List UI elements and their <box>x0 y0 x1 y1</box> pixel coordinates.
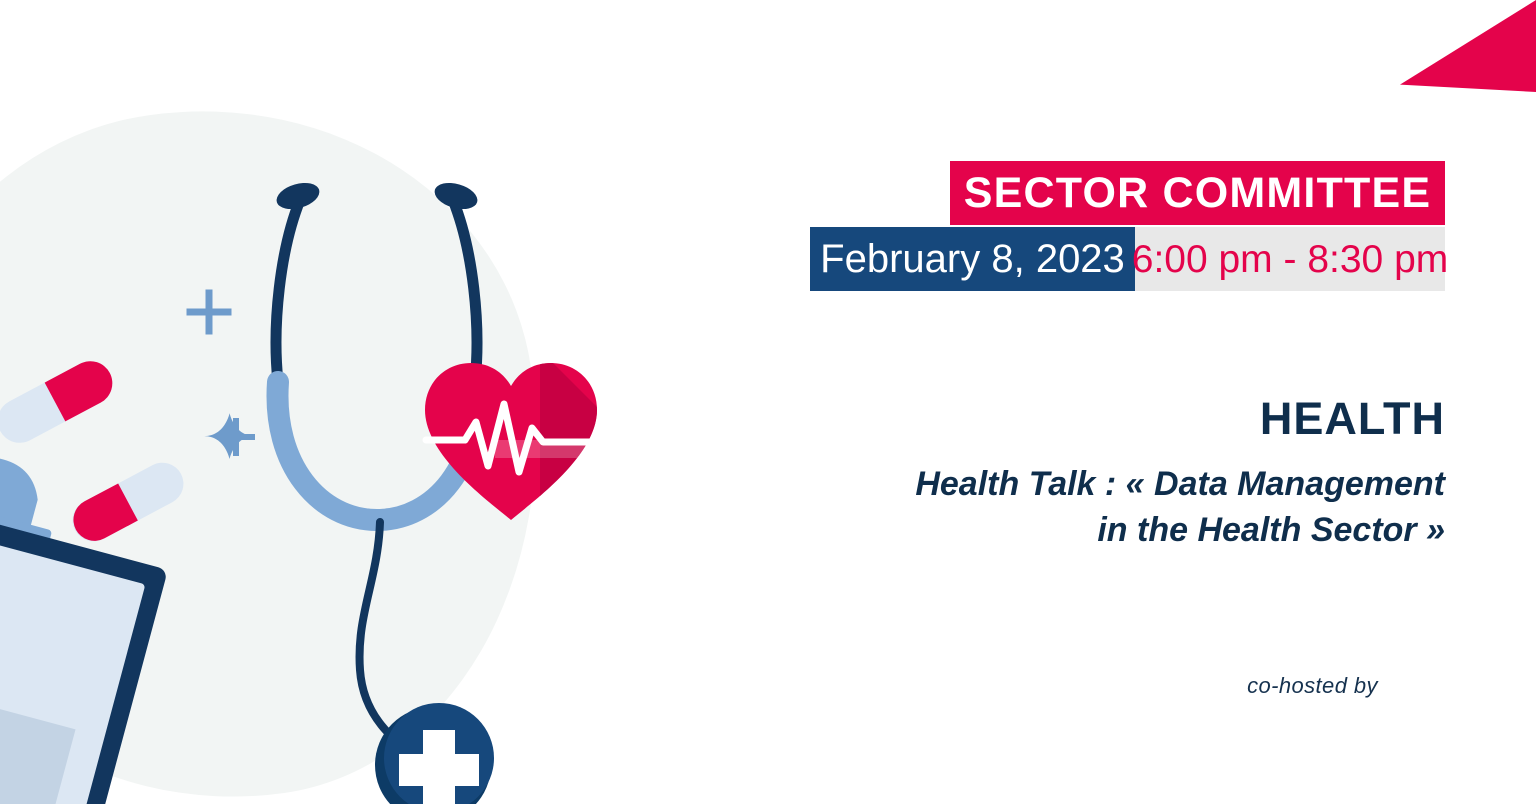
talk-title-line2: in the Health Sector » <box>700 508 1445 554</box>
sector-committee-banner: SECTOR COMMITTEE <box>950 161 1445 225</box>
partner-logo-strip: BUSINESSFRANCE CCI FRANCE VIETNAM <box>0 690 1536 800</box>
talk-title-line1: Health Talk : « Data Management <box>700 462 1445 508</box>
event-date-text: February 8, 2023 <box>820 239 1125 279</box>
event-time-badge: 6:00 pm - 8:30 pm <box>1135 227 1445 291</box>
content-column: SECTOR COMMITTEE February 8, 2023 6:00 p… <box>0 0 1536 804</box>
event-time-text: 6:00 pm - 8:30 pm <box>1132 240 1449 279</box>
poster-canvas: SECTOR COMMITTEE February 8, 2023 6:00 p… <box>0 0 1536 804</box>
sector-name: HEALTH <box>745 396 1445 441</box>
talk-title: Health Talk : « Data Management in the H… <box>700 462 1445 553</box>
event-date-badge: February 8, 2023 <box>810 227 1135 291</box>
banner-headline: SECTOR COMMITTEE <box>964 172 1432 215</box>
